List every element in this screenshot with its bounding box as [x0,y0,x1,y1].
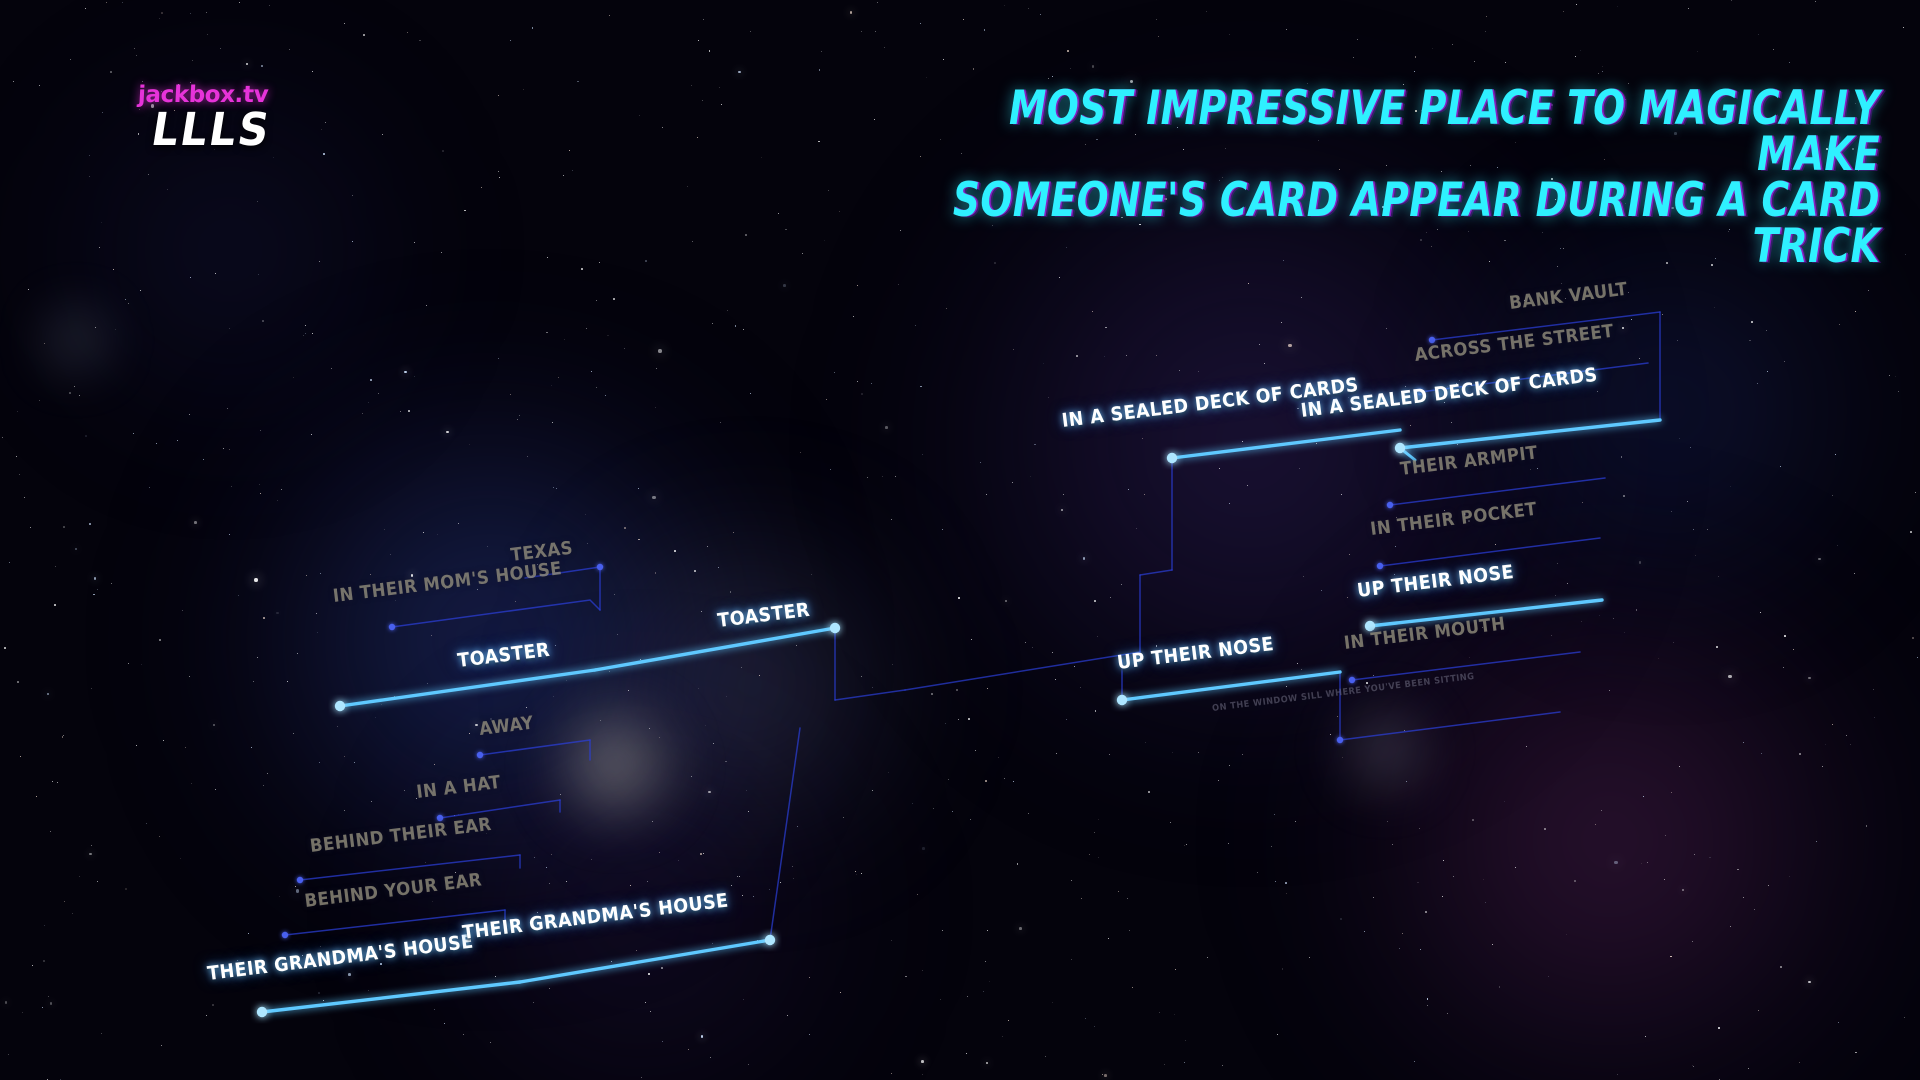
bracket-node [389,624,395,630]
bracket-line [770,728,800,940]
bracket-node [1167,453,1177,463]
bracket-line [1140,570,1172,575]
bracket-node [1395,443,1405,453]
bracket-line [1380,538,1600,566]
bracket-line [1340,712,1560,740]
bracket-node [830,623,840,633]
bracket-line [1390,478,1605,505]
bracket-node [765,935,775,945]
bracket-node [335,701,345,711]
bracket-node [1387,502,1393,508]
page-title: MOST IMPRESSIVE PLACE TO MAGICALLY MAKE … [680,86,1880,270]
bracket-node [257,1007,267,1017]
bracket-node [1117,695,1127,705]
prompt-line-2: SOMEONE'S CARD APPEAR DURING A CARD TRIC… [920,178,1880,270]
bracket-line [480,740,590,755]
room-code: LLLS [149,108,274,151]
bracket-node [297,877,303,883]
bracket-node [477,752,483,758]
bracket-node [1349,677,1355,683]
bracket-node [1377,563,1383,569]
bracket-line [520,940,770,982]
bracket-line [340,670,595,706]
bracket-line [595,628,835,670]
bracket-line [262,982,520,1012]
bracket-node [597,564,603,570]
bracket-line [440,800,560,818]
jackbox-logo: jackbox.tv LLLS [138,82,271,150]
game-screen: jackbox.tv LLLS MOST IMPRESSIVE PLACE TO… [0,0,1920,1080]
bracket-line [300,855,520,880]
bracket-node [1337,737,1343,743]
bracket-line [392,600,600,627]
prompt-line-1: MOST IMPRESSIVE PLACE TO MAGICALLY MAKE [920,86,1880,178]
bracket-line [1172,430,1400,458]
bracket-node [282,932,288,938]
bracket-line [905,652,1140,690]
bracket-line [835,690,905,700]
